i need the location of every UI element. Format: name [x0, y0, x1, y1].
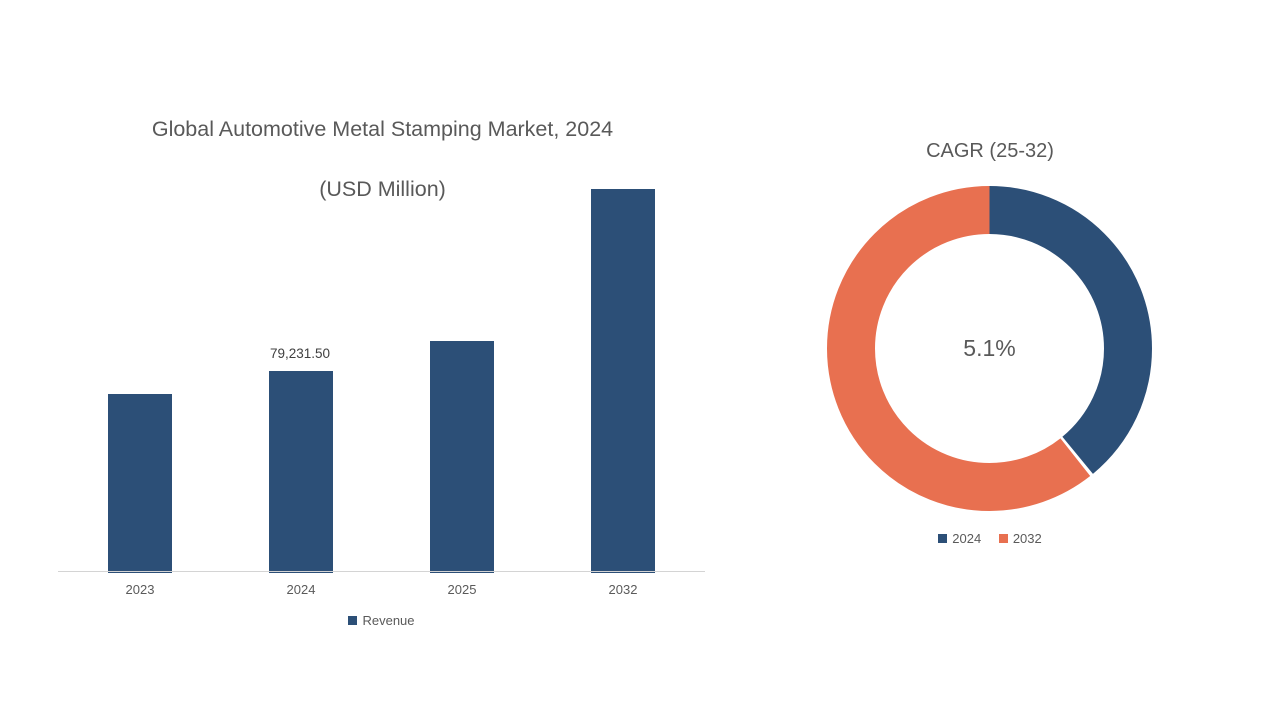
- donut-chart-graphic: 5.1%: [827, 186, 1152, 511]
- legend-swatch-2032: [999, 534, 1008, 543]
- x-axis-label-2023: 2023: [80, 582, 200, 597]
- donut-chart-title: CAGR (25-32): [760, 140, 1220, 163]
- bar-chart-title-line1: Global Automotive Metal Stamping Market,…: [152, 117, 613, 141]
- x-axis-line: [58, 571, 705, 572]
- bar-chart-panel: Global Automotive Metal Stamping Market,…: [0, 0, 760, 720]
- donut-chart-panel: CAGR (25-32) 5.1% 2024 2032: [760, 0, 1280, 720]
- bar-2032[interactable]: [591, 189, 655, 573]
- bar-2025[interactable]: [430, 341, 494, 573]
- chart-canvas: Global Automotive Metal Stamping Market,…: [0, 0, 1280, 720]
- bar-2023[interactable]: [108, 394, 172, 573]
- legend-item-2032[interactable]: 2032: [999, 531, 1042, 546]
- bar-chart-legend: Revenue: [58, 613, 705, 628]
- legend-swatch-revenue: [348, 616, 357, 625]
- x-axis-label-2024: 2024: [241, 582, 361, 597]
- donut-svg: [827, 186, 1152, 511]
- legend-label-revenue: Revenue: [362, 613, 414, 628]
- legend-item-2024[interactable]: 2024: [938, 531, 981, 546]
- bar-2024[interactable]: [269, 371, 333, 573]
- x-axis-label-2025: 2025: [402, 582, 522, 597]
- bar-chart-plot-area: [58, 180, 705, 573]
- donut-chart-legend: 2024 2032: [760, 531, 1220, 546]
- legend-label-2032: 2032: [1013, 531, 1042, 546]
- x-axis-label-2032: 2032: [563, 582, 683, 597]
- legend-swatch-2024: [938, 534, 947, 543]
- legend-label-2024: 2024: [952, 531, 981, 546]
- bar-value-label-2024: 79,231.50: [240, 346, 360, 361]
- legend-item-revenue[interactable]: Revenue: [348, 613, 414, 628]
